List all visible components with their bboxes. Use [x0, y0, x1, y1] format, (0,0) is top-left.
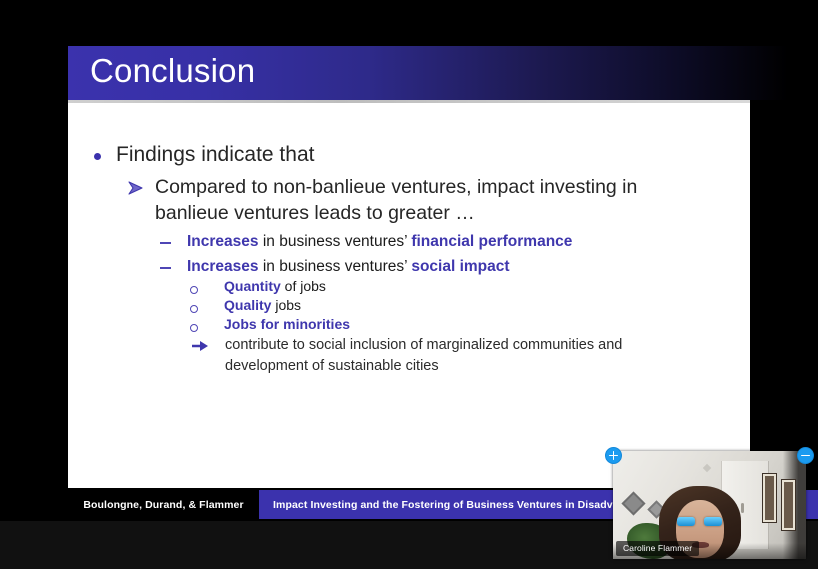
dash-bullet-icon [160, 242, 171, 244]
participant-name-label: Caroline Flammer [616, 541, 699, 556]
bullet-level2-text: Compared to non-banlieue ventures, impac… [155, 175, 688, 226]
wall-frame-decor [762, 473, 777, 523]
bullet-level1: Findings indicate that [94, 142, 314, 168]
glasses-lens-left [677, 517, 695, 526]
bullet-level3-social: Increases in business ventures’ social i… [160, 257, 680, 277]
bullet-level4-lead: Quality [224, 297, 271, 313]
bullet-level3-middle: in business ventures’ [259, 258, 412, 275]
bullet-level3-middle: in business ventures’ [259, 233, 412, 250]
circle-bullet-icon [190, 324, 198, 332]
right-arrow-icon [192, 339, 209, 353]
bullet-level4-text: Quantity of jobs [224, 278, 326, 296]
bullet-level5-text: contribute to social inclusion of margin… [225, 335, 682, 377]
bullet-level4-text: Quality jobs [224, 297, 301, 315]
bullet-dot-icon [94, 153, 101, 160]
bullet-level3-tail: social impact [411, 258, 509, 275]
wall-frame-decor [781, 479, 796, 531]
participant-video-window[interactable]: Caroline Flammer [613, 451, 806, 559]
slide-title: Conclusion [90, 52, 255, 90]
bullet-level4-lead: Quantity [224, 278, 281, 294]
circle-bullet-icon [190, 305, 198, 313]
participant-glasses [677, 517, 723, 526]
collapse-video-button[interactable] [797, 447, 814, 464]
footer-authors-text: Boulongne, Durand, & Flammer [83, 499, 243, 511]
plus-icon [609, 451, 618, 460]
glasses-lens-right [704, 517, 722, 526]
bullet-level4-quality: Quality jobs [190, 297, 301, 315]
minus-icon [801, 451, 810, 460]
bullet-level3-text: Increases in business ventures’ financia… [187, 232, 572, 252]
bullet-level3-lead: Increases [187, 233, 259, 250]
dash-bullet-icon [160, 267, 171, 269]
circle-bullet-icon [190, 286, 198, 294]
bullet-level3-financial: Increases in business ventures’ financia… [160, 232, 680, 252]
bullet-level4-tail: jobs [271, 297, 301, 313]
footer-authors: Boulongne, Durand, & Flammer [68, 490, 259, 519]
bullet-level4-quantity: Quantity of jobs [190, 278, 326, 296]
bullet-level3-tail: financial performance [411, 233, 572, 250]
wall-art-decor [703, 464, 711, 472]
bullet-level5: contribute to social inclusion of margin… [192, 335, 682, 377]
expand-video-button[interactable] [605, 447, 622, 464]
bullet-level1-text: Findings indicate that [116, 142, 314, 168]
bullet-level4-minorities: Jobs for minorities [190, 316, 350, 334]
bullet-level3-lead: Increases [187, 258, 259, 275]
bullet-level3-text: Increases in business ventures’ social i… [187, 257, 510, 277]
bullet-level2: Compared to non-banlieue ventures, impac… [128, 175, 688, 226]
presentation-screen: Conclusion Findings indicate that Compar… [0, 0, 818, 569]
door-handle-decor [741, 503, 744, 513]
bullet-level4-text: Jobs for minorities [224, 316, 350, 334]
bullet-level4-tail: of jobs [281, 278, 326, 294]
wall-art-decor [621, 491, 645, 515]
arrowhead-bullet-icon [128, 181, 143, 195]
bullet-level4-lead: Jobs for minorities [224, 316, 350, 332]
